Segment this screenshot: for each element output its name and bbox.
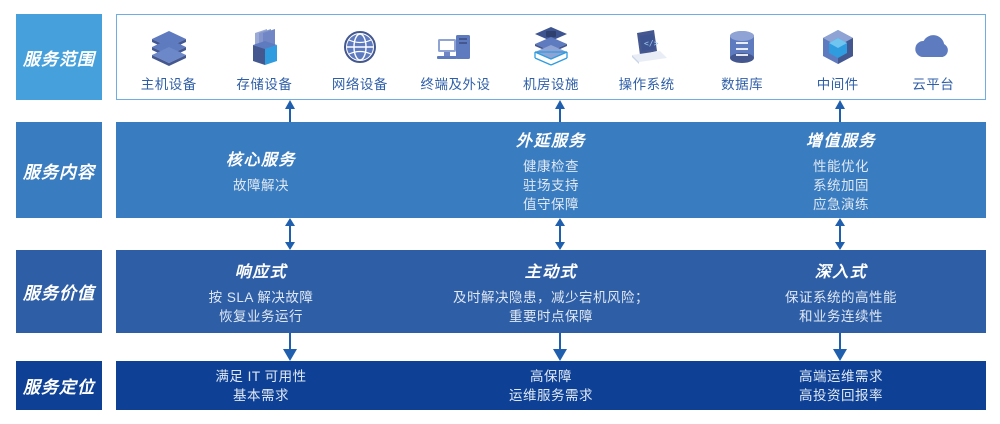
cloud-icon xyxy=(910,25,956,69)
value-cell-indepth[interactable]: 深入式 保证系统的高性能 和业务连续性 xyxy=(696,250,986,333)
content-cell-valueadd[interactable]: 增值服务 性能优化 系统加固 应急演练 xyxy=(696,122,986,218)
cell-line: 恢复业务运行 xyxy=(219,307,303,326)
cell-line: 健康检查 xyxy=(523,157,579,176)
cell-line: 运维服务需求 xyxy=(509,386,593,405)
server-stack-icon xyxy=(148,25,190,69)
value-cell-reactive[interactable]: 响应式 按 SLA 解决故障 恢复业务运行 xyxy=(116,250,406,333)
service-content-band: 核心服务 故障解决 外延服务 健康检查 驻场支持 值守保障 增值服务 性能优化 … xyxy=(116,122,986,218)
scope-item-database[interactable]: 数据库 xyxy=(694,25,790,93)
scope-item-facility[interactable]: 机房设施 xyxy=(503,25,599,93)
service-position-band: 满足 IT 可用性 基本需求 高保障 运维服务需求 高端运维需求 高投资回报率 xyxy=(116,361,986,410)
scope-item-network[interactable]: 网络设备 xyxy=(312,25,408,93)
position-cell-assured[interactable]: 高保障 运维服务需求 xyxy=(406,361,696,410)
position-cell-basic[interactable]: 满足 IT 可用性 基本需求 xyxy=(116,361,406,410)
service-value-band: 响应式 按 SLA 解决故障 恢复业务运行 主动式 及时解决隐患，减少宕机风险；… xyxy=(116,250,986,333)
row-label-service-scope: 服务范围 xyxy=(16,14,102,100)
cell-line: 性能优化 xyxy=(813,157,869,176)
cell-line: 满足 IT 可用性 xyxy=(215,367,306,386)
connector-value-position-left xyxy=(278,333,302,361)
cell-title: 响应式 xyxy=(235,258,288,282)
scope-item-os[interactable]: </> 操作系统 xyxy=(599,25,695,93)
scope-item-terminal[interactable]: 终端及外设 xyxy=(408,25,504,93)
row-label-service-position: 服务定位 xyxy=(16,361,102,410)
cell-title: 增值服务 xyxy=(806,127,876,151)
connector-content-value-right xyxy=(828,218,852,250)
connector-content-value-left xyxy=(278,218,302,250)
cell-line: 应急演练 xyxy=(813,195,869,214)
row-label-service-value: 服务价值 xyxy=(16,250,102,333)
row-label-text: 服务价值 xyxy=(23,279,95,304)
cell-line: 驻场支持 xyxy=(523,176,579,195)
cell-line: 重要时点保障 xyxy=(509,307,593,326)
cell-title: 核心服务 xyxy=(226,146,296,170)
cell-line: 系统加固 xyxy=(813,176,869,195)
cell-line: 高投资回报率 xyxy=(799,386,883,405)
laptop-code-icon: </> xyxy=(624,25,670,69)
connector-value-position-right xyxy=(828,333,852,361)
scope-item-label: 主机设备 xyxy=(141,73,197,93)
service-framework-diagram: 服务范围 主机设备 xyxy=(0,0,1000,424)
position-cell-premium[interactable]: 高端运维需求 高投资回报率 xyxy=(696,361,986,410)
scope-item-label: 存储设备 xyxy=(236,73,292,93)
scope-item-label: 终端及外设 xyxy=(420,73,490,93)
datacenter-facility-icon xyxy=(528,25,574,69)
scope-item-host[interactable]: 主机设备 xyxy=(121,25,217,93)
scope-item-cloud[interactable]: 云平台 xyxy=(886,25,982,93)
globe-network-icon xyxy=(339,25,381,69)
scope-item-label: 操作系统 xyxy=(619,73,675,93)
svg-text:</>: </> xyxy=(644,39,659,48)
cell-line: 故障解决 xyxy=(233,176,289,195)
cell-line: 及时解决隐患，减少宕机风险； xyxy=(453,288,649,307)
cube-middleware-icon xyxy=(817,25,859,69)
cell-line: 值守保障 xyxy=(523,195,579,214)
cell-line: 保证系统的高性能 xyxy=(785,288,897,307)
row-label-text: 服务范围 xyxy=(23,45,95,70)
row-label-text: 服务内容 xyxy=(23,158,95,183)
content-cell-extended[interactable]: 外延服务 健康检查 驻场支持 值守保障 xyxy=(406,122,696,218)
scope-item-label: 数据库 xyxy=(721,73,763,93)
row-label-service-content: 服务内容 xyxy=(16,122,102,218)
connector-content-value-center xyxy=(548,218,572,250)
cell-title: 主动式 xyxy=(525,258,578,282)
row-label-text: 服务定位 xyxy=(23,373,95,398)
desktop-peripheral-icon xyxy=(432,25,478,69)
content-cell-core[interactable]: 核心服务 故障解决 xyxy=(116,122,406,218)
connector-scope-content-center xyxy=(548,100,572,122)
cell-title: 深入式 xyxy=(815,258,868,282)
scope-item-label: 云平台 xyxy=(912,73,954,93)
cell-line: 按 SLA 解决故障 xyxy=(209,288,314,307)
service-scope-panel: 主机设备 存储设备 xyxy=(116,14,986,100)
database-cylinder-icon xyxy=(721,25,763,69)
cell-line: 高端运维需求 xyxy=(799,367,883,386)
scope-item-label: 中间件 xyxy=(817,73,859,93)
connector-value-position-center xyxy=(548,333,572,361)
scope-item-storage[interactable]: 存储设备 xyxy=(217,25,313,93)
connector-scope-content-right xyxy=(828,100,852,122)
cell-line: 高保障 xyxy=(530,367,572,386)
connector-scope-content-left xyxy=(278,100,302,122)
cell-title: 外延服务 xyxy=(516,127,586,151)
cell-line: 和业务连续性 xyxy=(799,307,883,326)
scope-item-label: 机房设施 xyxy=(523,73,579,93)
value-cell-proactive[interactable]: 主动式 及时解决隐患，减少宕机风险； 重要时点保障 xyxy=(406,250,696,333)
cell-line: 基本需求 xyxy=(233,386,289,405)
scope-item-label: 网络设备 xyxy=(332,73,388,93)
scope-item-middleware[interactable]: 中间件 xyxy=(790,25,886,93)
storage-array-icon xyxy=(243,25,285,69)
